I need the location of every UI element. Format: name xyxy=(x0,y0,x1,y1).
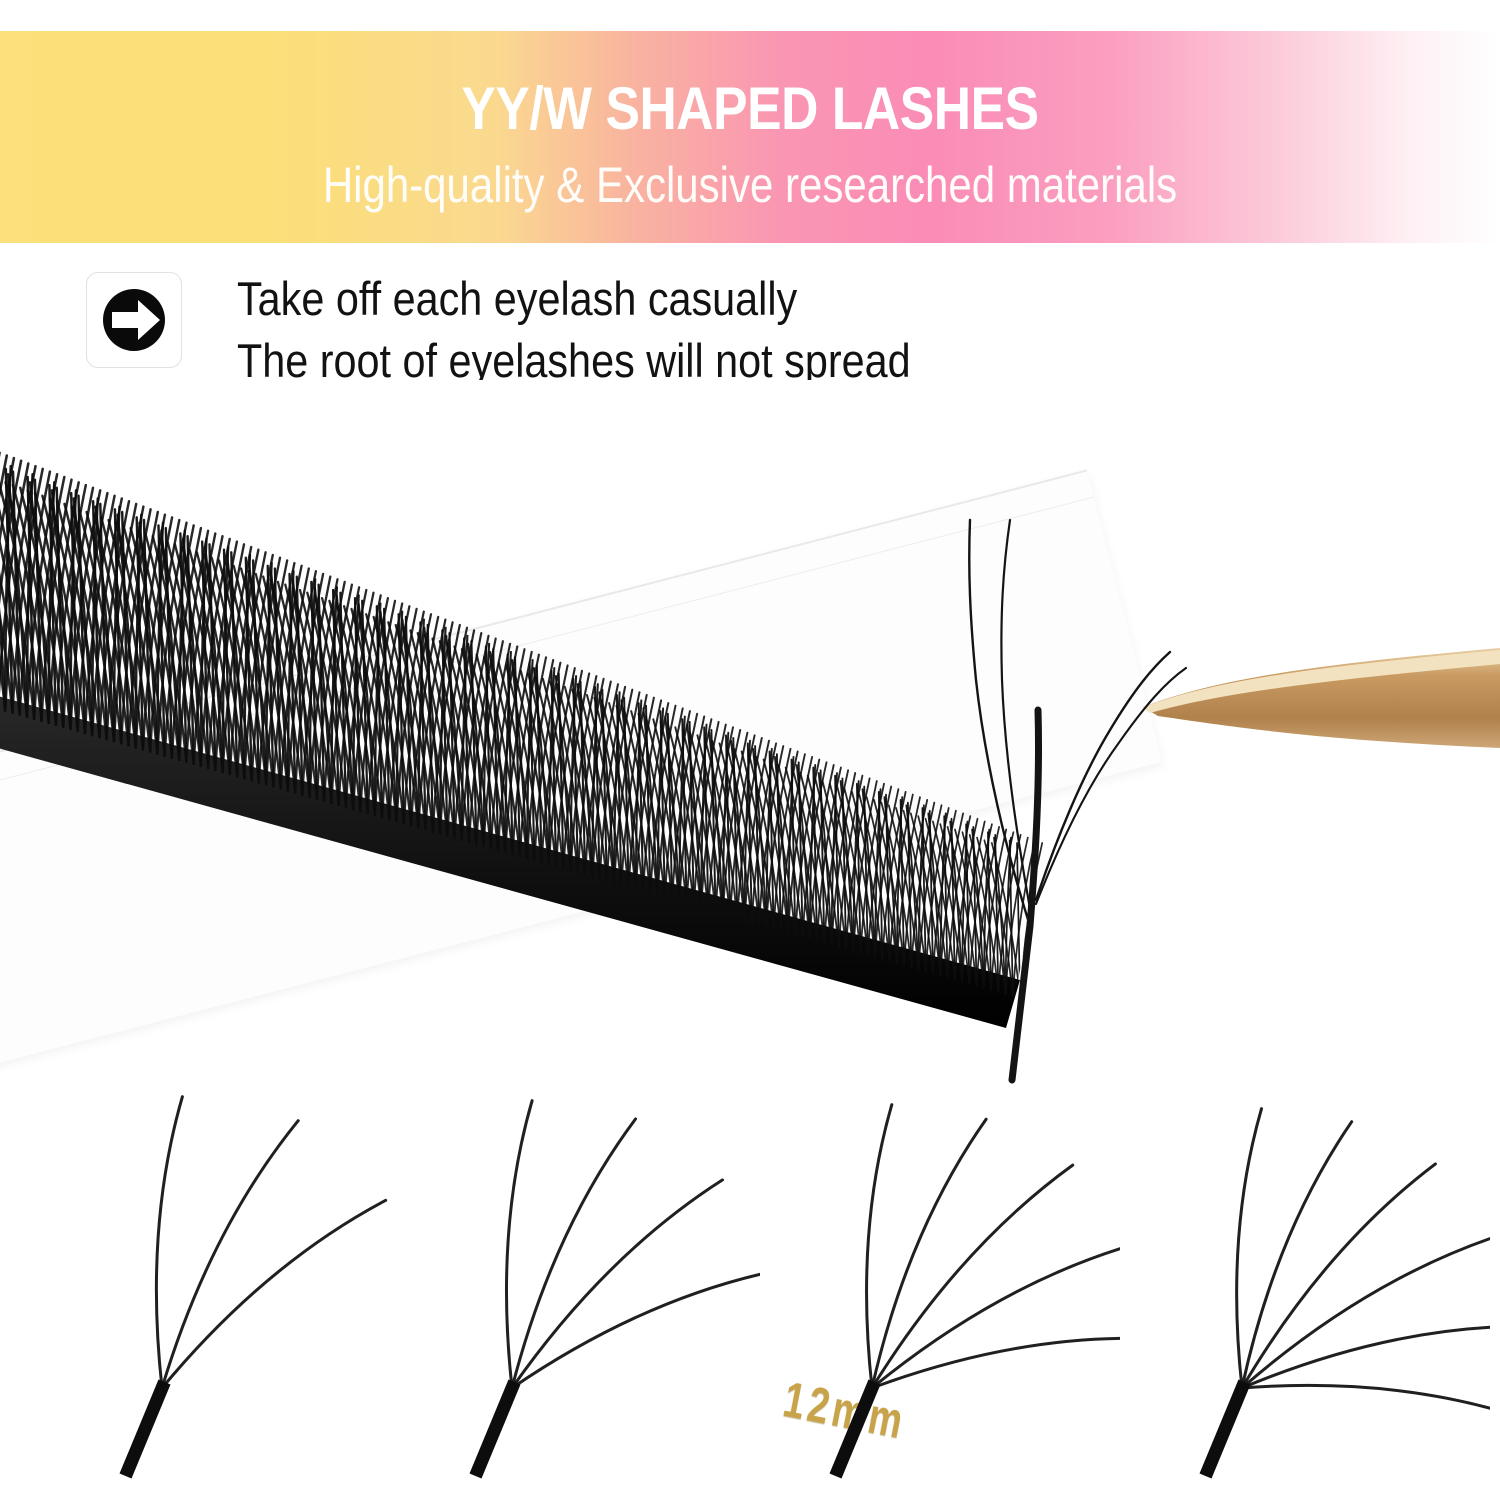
fan-filament xyxy=(872,1338,1120,1388)
banner-subtitle: High-quality & Exclusive researched mate… xyxy=(120,158,1380,212)
header-banner: YY/W SHAPED LASHES High-quality & Exclus… xyxy=(0,31,1500,243)
banner-title: YY/W SHAPED LASHES xyxy=(105,78,1395,140)
tweezer-with-lash xyxy=(0,380,1500,1160)
instruction-icon-badge xyxy=(86,272,182,368)
fan-root-stem xyxy=(1208,1388,1242,1470)
fan-filament xyxy=(512,1271,760,1388)
lash-fan-specimen xyxy=(400,1070,760,1490)
fan-filament xyxy=(156,1097,182,1388)
instruction-block: Take off each eyelash casually The root … xyxy=(86,272,1002,392)
product-photo: 12mm xyxy=(0,380,1500,1500)
instruction-line-1: Take off each eyelash casually xyxy=(237,268,911,330)
fan-filament xyxy=(867,1105,892,1388)
instruction-text-group: Take off each eyelash casually The root … xyxy=(237,268,1002,392)
fan-filament xyxy=(506,1101,532,1388)
fan-filament xyxy=(512,1180,723,1388)
6-tip-fan xyxy=(1130,1070,1490,1490)
lash-fan-specimen-row xyxy=(0,1070,1500,1500)
circle-arrow-right-icon xyxy=(98,284,170,356)
3-tip-fan xyxy=(50,1070,410,1490)
fan-filament xyxy=(1237,1109,1262,1388)
fan-root-stem xyxy=(838,1388,872,1470)
5-tip-fan xyxy=(760,1070,1120,1490)
4-tip-fan xyxy=(400,1070,760,1490)
product-infographic: YY/W SHAPED LASHES High-quality & Exclus… xyxy=(0,0,1500,1500)
fan-filament xyxy=(1242,1122,1352,1388)
lash-fan-specimen xyxy=(760,1070,1120,1490)
fan-root-stem xyxy=(478,1388,512,1470)
fan-filament xyxy=(1242,1385,1490,1417)
fan-filament xyxy=(162,1121,298,1388)
lash-fan-specimen xyxy=(1130,1070,1490,1490)
fan-filament xyxy=(872,1165,1073,1388)
tweezer-tip xyxy=(1143,648,1500,748)
fan-filament xyxy=(872,1119,986,1388)
fan-root-stem xyxy=(128,1388,162,1470)
held-lash-fan xyxy=(969,520,1186,1080)
lash-fan-specimen xyxy=(50,1070,410,1490)
